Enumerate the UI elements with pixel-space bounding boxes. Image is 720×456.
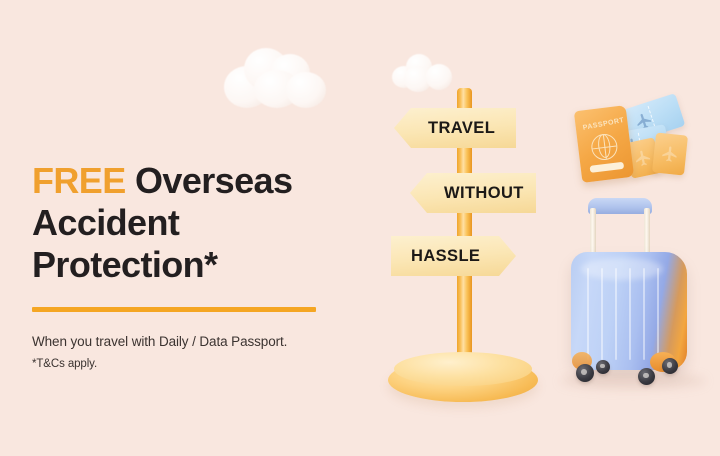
headline-block: FREE Overseas Accident Protection* (32, 160, 372, 286)
subcopy-disclaimer: *T&Cs apply. (32, 358, 362, 370)
airplane-icon (660, 144, 680, 164)
airplane-icon (632, 147, 653, 168)
passport-icon: PASSPORT (574, 105, 634, 183)
suitcase-illustration (566, 198, 694, 390)
suitcase-ribs (587, 268, 659, 360)
subcopy-line-1: When you travel with Daily / Data Passpo… (32, 334, 362, 349)
suitcase-shell (571, 252, 687, 370)
sign-without-label: WITHOUT (444, 184, 524, 203)
suitcase-handle-post (644, 208, 650, 258)
ticket-stub-icon (652, 132, 688, 175)
suitcase-handle-post (590, 208, 596, 258)
headline-free-word: FREE (32, 160, 126, 201)
cloud-large-icon (224, 44, 328, 108)
promo-banner: FREE Overseas Accident Protection* When … (0, 0, 720, 456)
signpost-base-top (394, 352, 532, 386)
headline-line3: Protection* (32, 244, 217, 285)
sign-travel-label: TRAVEL (428, 119, 495, 138)
passport-bottom-bar (590, 162, 625, 173)
headline-line2: Accident (32, 202, 179, 243)
sign-hassle: HASSLE (391, 236, 516, 276)
subcopy-block: When you travel with Daily / Data Passpo… (32, 334, 362, 370)
travel-documents-illustration: PASSPORT (572, 96, 696, 188)
suitcase-handle-bar (588, 198, 652, 214)
globe-icon (590, 132, 619, 161)
suitcase-wheel (576, 364, 594, 382)
accent-divider (32, 307, 316, 312)
suitcase-wheel (596, 360, 610, 374)
headline-line1-rest: Overseas (126, 160, 293, 201)
page-title: FREE Overseas Accident Protection* (32, 160, 372, 286)
sign-travel: TRAVEL (394, 108, 516, 148)
sign-without: WITHOUT (410, 173, 536, 213)
signpost-illustration: TRAVEL WITHOUT HASSLE (380, 80, 550, 400)
suitcase-wheel (662, 358, 678, 374)
passport-label: PASSPORT (582, 117, 625, 132)
sign-hassle-label: HASSLE (411, 247, 480, 266)
suitcase-wheel (638, 368, 655, 385)
